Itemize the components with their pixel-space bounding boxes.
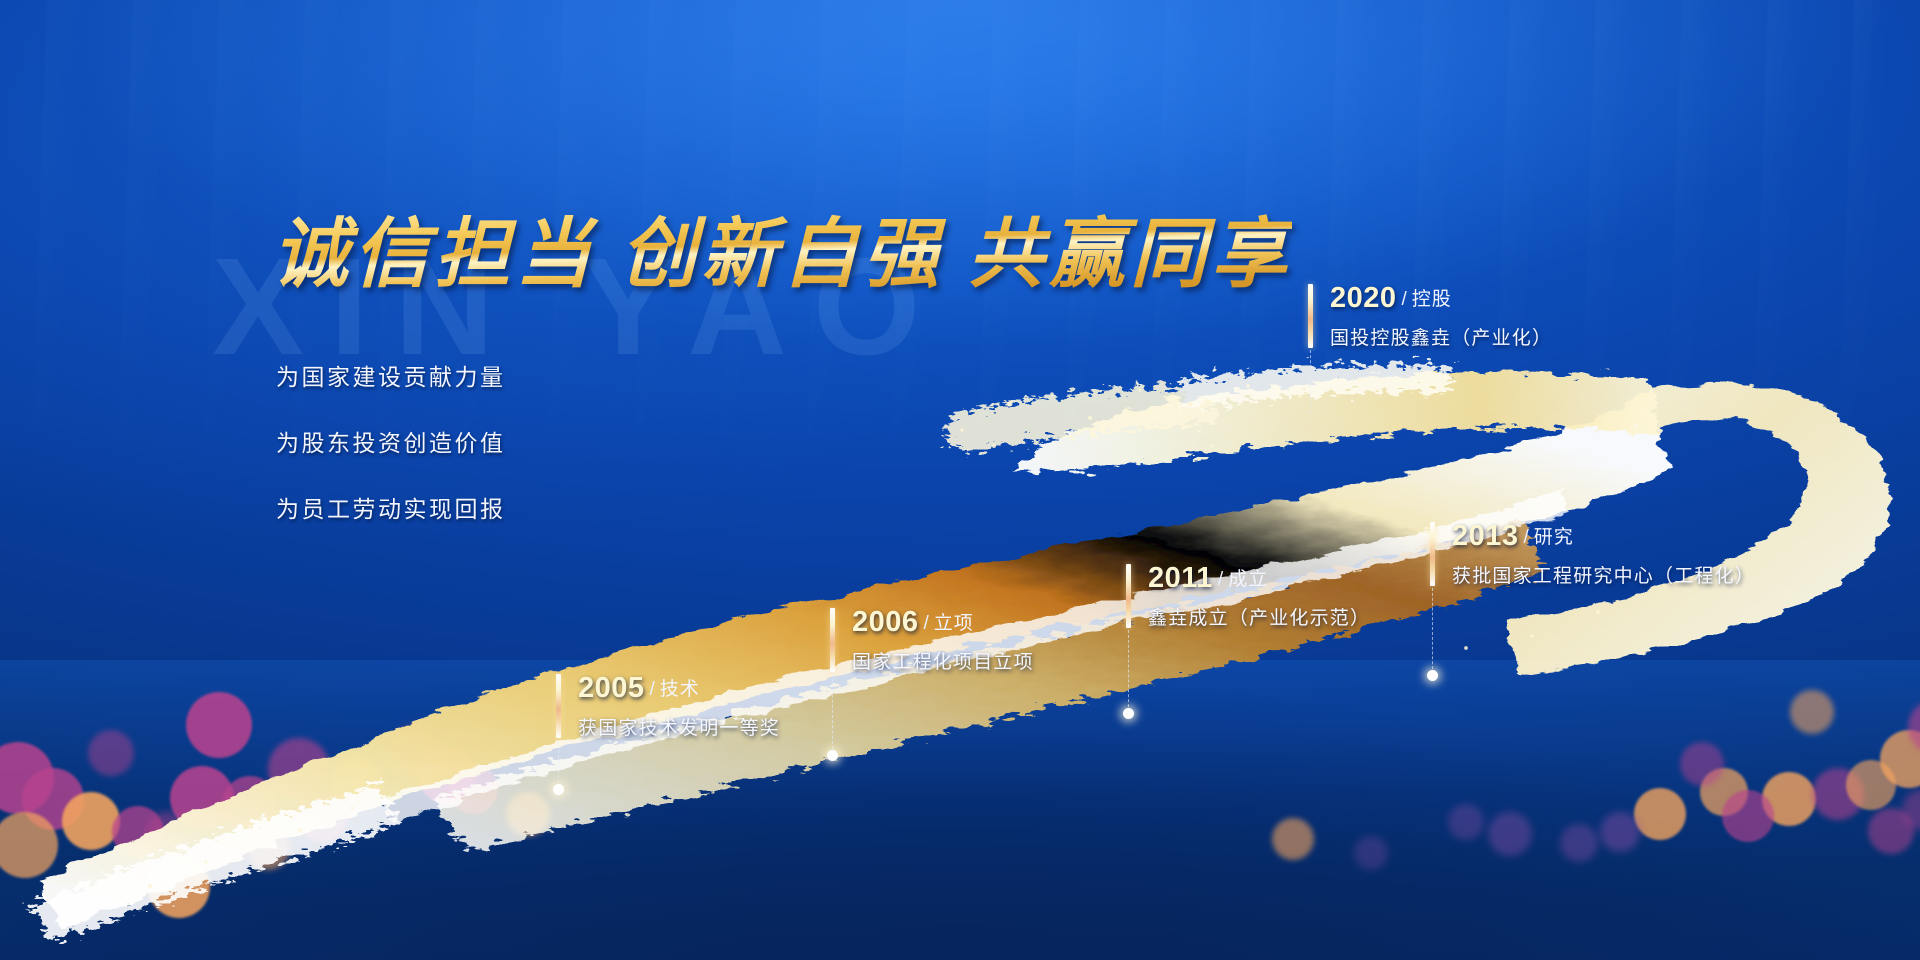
timeline-dot-2011 [1123,708,1134,719]
timeline-dot-2013 [1427,670,1438,681]
bokeh-circle [222,776,278,832]
bokeh-circle [88,730,134,776]
timeline-description: 获批国家工程研究中心（工程化） [1452,561,1755,588]
bokeh-circle [1790,690,1834,734]
bokeh-circle [62,792,120,850]
bokeh-circle [506,792,550,836]
bokeh-circle [1272,818,1314,860]
bokeh-circle [1560,824,1598,862]
timeline-connector-2005 [558,740,559,788]
slogan-line-1: 为国家建设贡献力量 [276,358,506,392]
timeline-year-row: 2005/技术 [578,672,700,705]
timeline-marker-bar [1430,522,1435,586]
timeline-marker-bar [1126,564,1131,628]
bokeh-circle [1448,804,1484,840]
timeline-category: 技术 [660,679,700,700]
timeline-category: 控股 [1412,289,1452,310]
timeline-connector-2013 [1432,588,1433,674]
bokeh-circle [1722,790,1774,842]
bokeh-circle [1600,812,1640,852]
timeline-year: 2006 [852,606,919,638]
timeline-description: 获国家技术发明一等奖 [578,713,780,740]
timeline-separator: / [1218,569,1223,590]
timeline-category: 研究 [1534,527,1574,548]
timeline-marker-bar [830,608,835,672]
timeline-year: 2011 [1148,562,1213,594]
bokeh-circle [246,826,290,870]
bokeh-circle [448,764,498,814]
timeline-separator: / [1524,527,1529,548]
timeline-marker-bar [1308,284,1313,348]
timeline-connector-2006 [832,674,833,754]
slogan-list: 为国家建设贡献力量 为股东投资创造价值 为员工劳动实现回报 [276,358,506,556]
bokeh-circle [1354,836,1388,870]
timeline-category: 立项 [934,613,974,634]
bokeh-circle [1634,788,1686,840]
timeline-year: 2013 [1452,520,1519,552]
timeline-year-row: 2006/立项 [852,606,974,639]
page-title: 诚信担当 创新自强 共赢同享 [272,192,1292,302]
timeline-dot-2005 [553,784,564,795]
slogan-line-3: 为员工劳动实现回报 [276,490,506,524]
bokeh-circle [330,756,382,808]
banner-stage: XIN YAO 诚信担当 创新自强 共赢同享 为国家建设贡献力量 为股东投资创造… [0,0,1920,960]
timeline-year: 2005 [578,672,645,704]
timeline-separator: / [924,613,929,634]
bokeh-circle [1680,742,1724,786]
timeline-year-row: 2011/成立 [1148,562,1268,595]
slogan-line-2: 为股东投资创造价值 [276,424,506,458]
timeline-description: 国投控股鑫垚（产业化） [1330,323,1552,350]
timeline-description: 国家工程化项目立项 [852,647,1034,674]
timeline-connector-2011 [1128,630,1129,712]
timeline-marker-bar [556,674,561,738]
timeline-separator: / [650,679,655,700]
timeline-category: 成立 [1228,569,1268,590]
timeline-separator: / [1402,289,1407,310]
timeline-year-row: 2013/研究 [1452,520,1574,553]
timeline-description: 鑫垚成立（产业化示范） [1148,603,1370,630]
bokeh-circle [146,812,186,852]
bokeh-circle [148,856,210,918]
timeline-year: 2020 [1330,282,1397,314]
bokeh-circle [186,692,252,758]
background-floor-glow [0,660,1920,960]
timeline-year-row: 2020/控股 [1330,282,1452,315]
timeline-connector-2020 [1310,350,1311,414]
bokeh-circle [1488,812,1532,856]
timeline-dot-2006 [827,750,838,761]
